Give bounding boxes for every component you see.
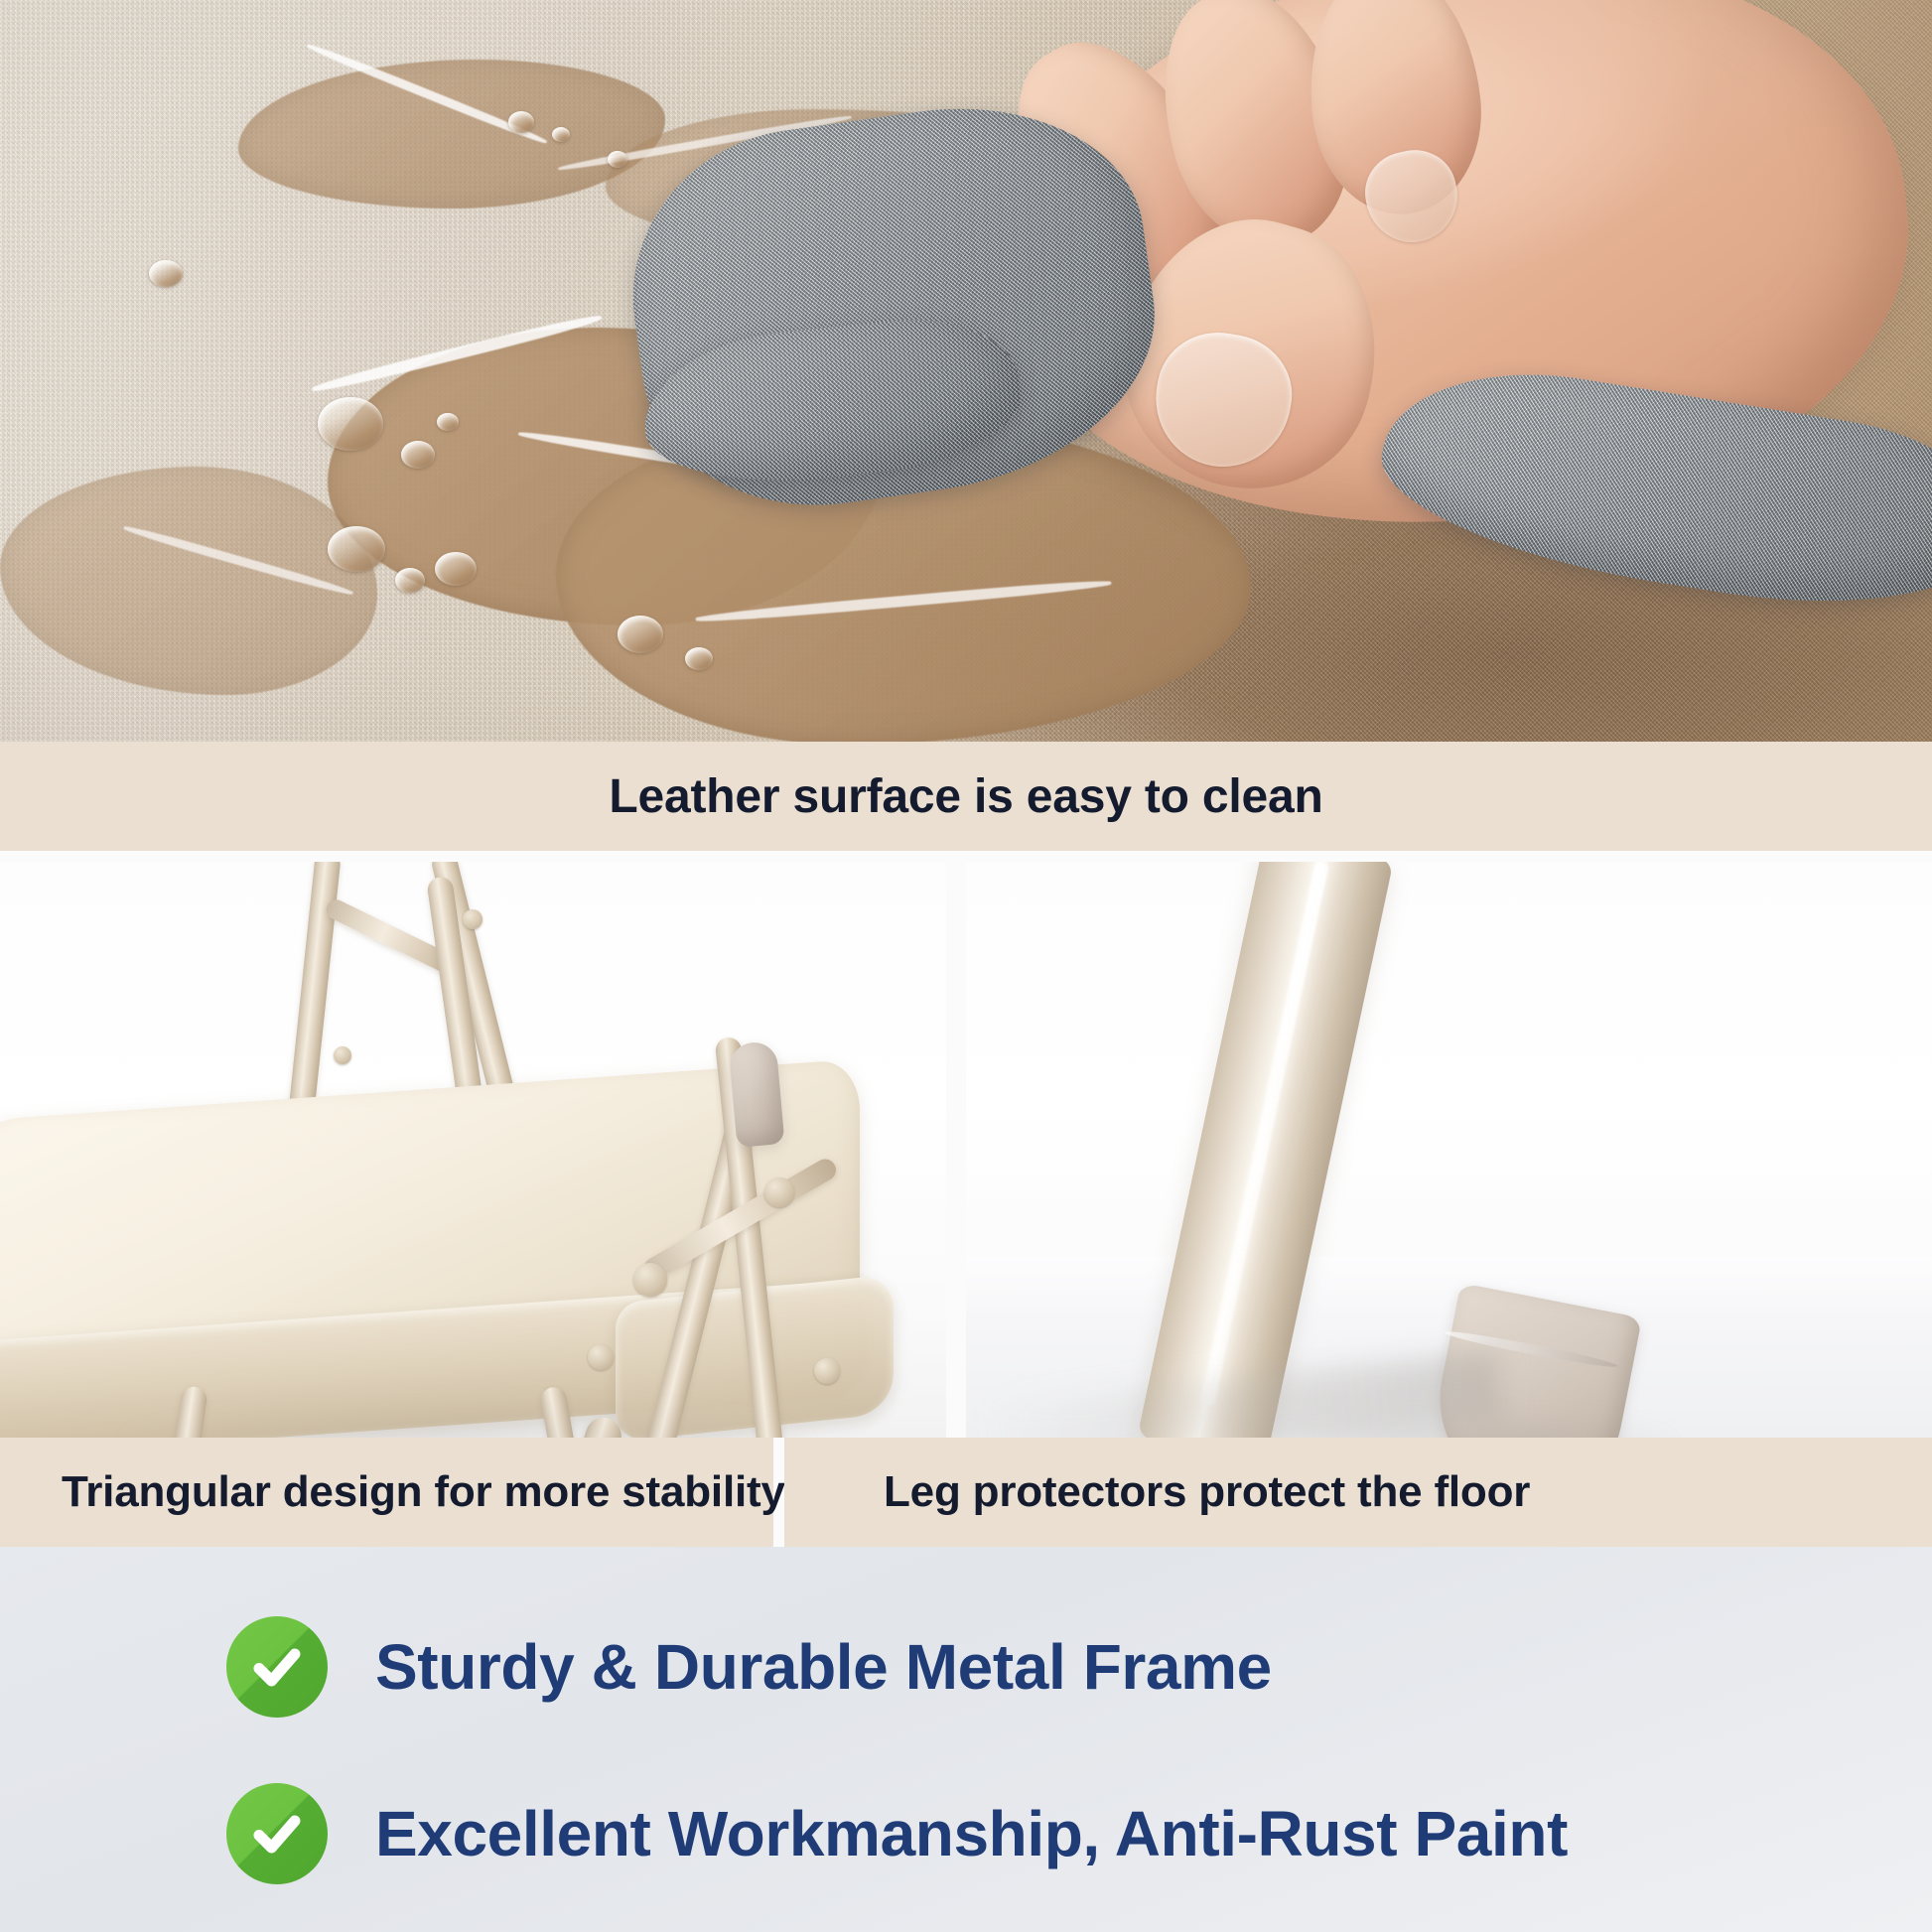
water-droplet [508,111,534,133]
check-circle-icon [226,1616,328,1718]
water-droplet [395,568,425,593]
frame-rivet [588,1344,614,1370]
frame-rivet [633,1263,667,1297]
feature-item-2: Excellent Workmanship, Anti-Rust Paint [226,1783,1568,1884]
feature-label-2: Excellent Workmanship, Anti-Rust Paint [375,1797,1568,1870]
caption-text-leg-protectors: Leg protectors protect the floor [884,1467,1530,1517]
check-circle-icon [226,1783,328,1884]
water-droplet [401,441,435,469]
caption-band-leg-protectors: Leg protectors protect the floor [784,1438,1932,1547]
infographic-sheet: Leather surface is easy to clean [0,0,1932,1932]
leather-clean-image [0,0,1932,742]
frame-rivet [334,1046,351,1064]
feature-label-1: Sturdy & Durable Metal Frame [375,1630,1272,1704]
caption-band-triangular-design: Triangular design for more stability [0,1438,773,1547]
frame-rivet [463,909,483,929]
features-section: Sturdy & Durable Metal Frame Excellent W… [0,1547,1932,1932]
water-droplet [437,413,459,431]
water-droplet [685,647,713,670]
feature-item-1: Sturdy & Durable Metal Frame [226,1616,1272,1718]
triangular-design-image [0,862,946,1438]
water-droplet [318,397,383,451]
water-droplet [328,526,385,572]
water-droplet [435,552,477,586]
water-droplet [552,127,570,142]
frame-rivet [814,1358,840,1384]
frame-rivet [764,1177,794,1207]
caption-band-leather-clean: Leather surface is easy to clean [0,742,1932,851]
water-droplet [149,260,183,287]
water-droplet [618,616,663,653]
leg-protectors-image [966,862,1932,1438]
caption-text-triangular-design: Triangular design for more stability [62,1467,785,1517]
caption-text-leather-clean: Leather surface is easy to clean [609,769,1322,824]
